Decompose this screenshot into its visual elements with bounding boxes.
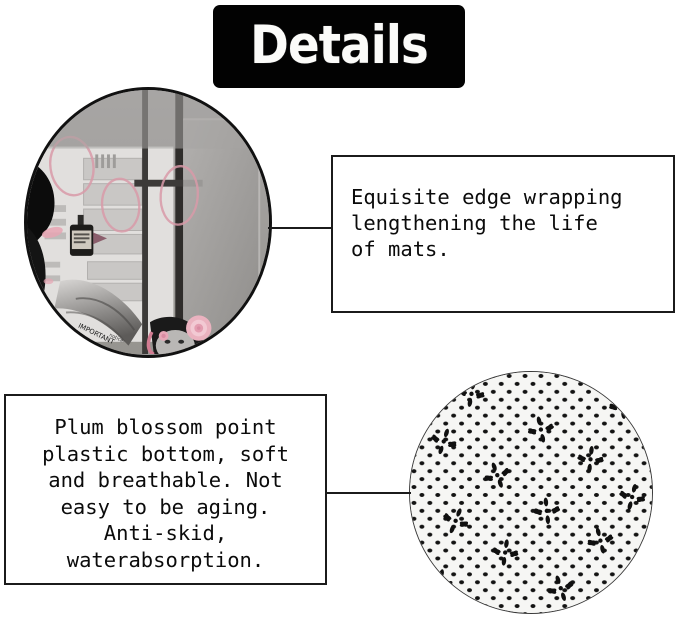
callout-plastic-bottom-text: Plum blossom point plastic bottom, soft … [12, 414, 319, 573]
plum-blossom-backing [410, 372, 652, 613]
callout-plastic-bottom: Plum blossom point plastic bottom, soft … [4, 394, 327, 585]
details-infographic: Details [0, 0, 679, 619]
connector-line-edge-wrapping [268, 227, 333, 229]
title-banner: Details [213, 5, 465, 88]
connector-line-plastic-bottom [326, 492, 411, 494]
plum-blossom-backing-circle [409, 371, 653, 614]
callout-edge-wrapping: Equisite edge wrapping lengthening the l… [331, 155, 675, 313]
mat-edge-photo: IMPORTANT notice CARPET [27, 90, 269, 354]
page-title: Details [228, 17, 450, 75]
mat-edge-photo-circle: IMPORTANT notice CARPET [24, 87, 272, 358]
callout-edge-wrapping-text: Equisite edge wrapping lengthening the l… [351, 184, 669, 262]
